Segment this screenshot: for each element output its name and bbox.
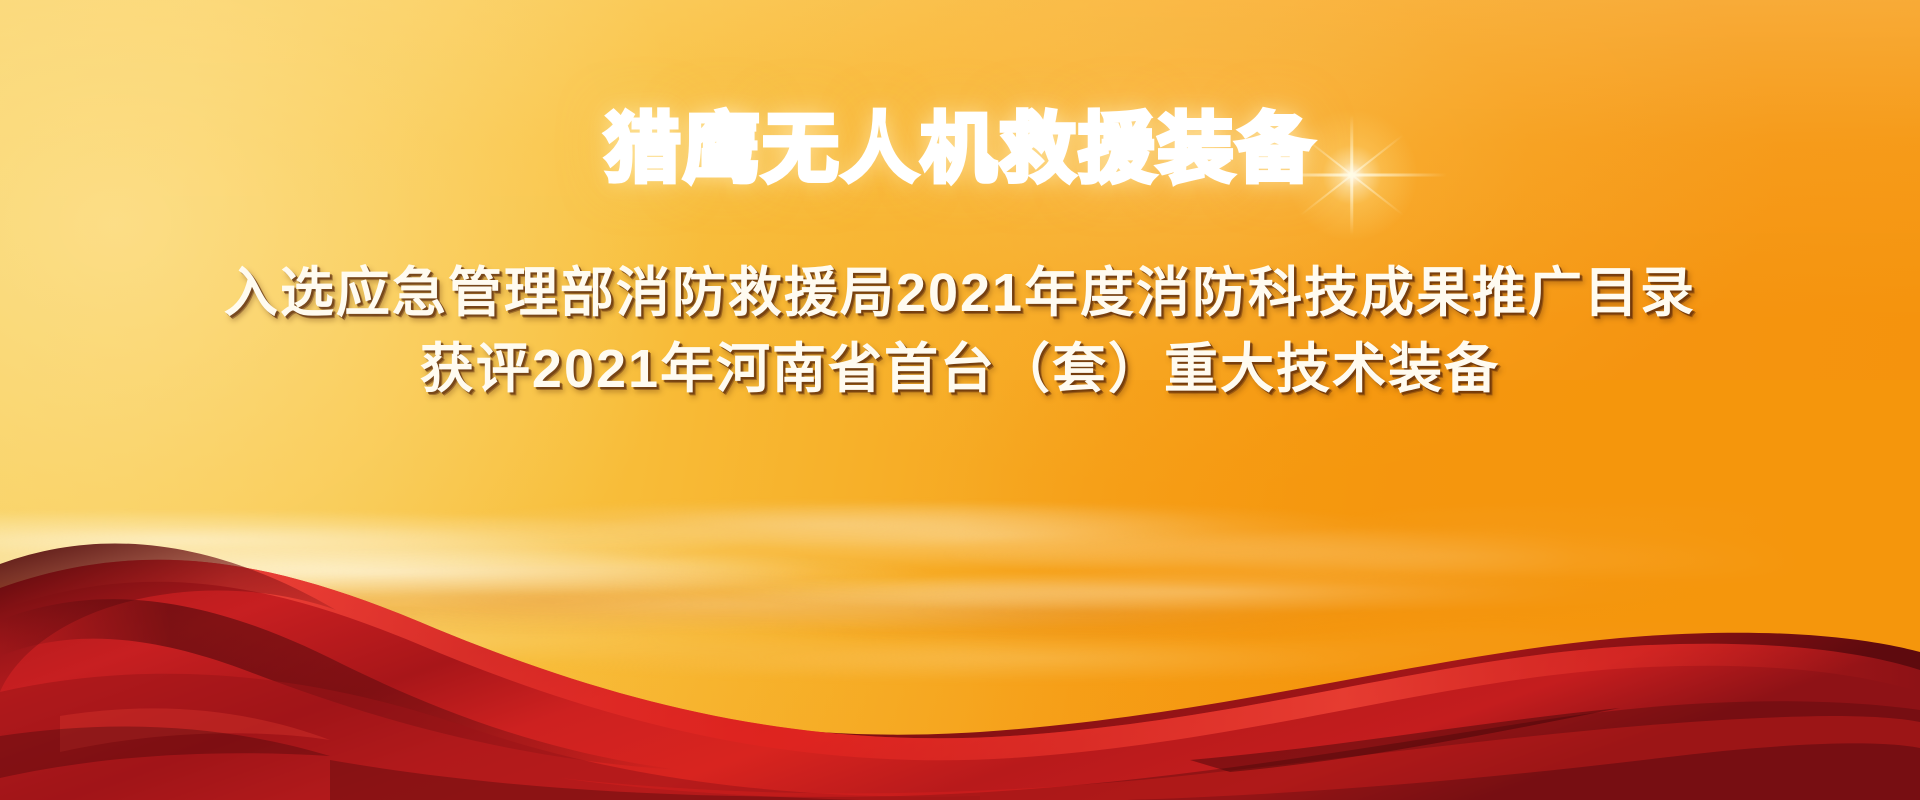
banner-subline-1: 入选应急管理部消防救援局2021年度消防科技成果推广目录 <box>0 248 1920 327</box>
banner-subline-2: 获评2021年河南省首台（套）重大技术装备 <box>0 324 1920 403</box>
promo-banner: 猎鹰无人机救援装备 入选应急管理部消防救援局2021年度消防科技成果推广目录 获… <box>0 0 1920 800</box>
banner-headline: 猎鹰无人机救援装备 <box>0 112 1920 188</box>
red-silk-ribbon <box>0 460 1920 800</box>
